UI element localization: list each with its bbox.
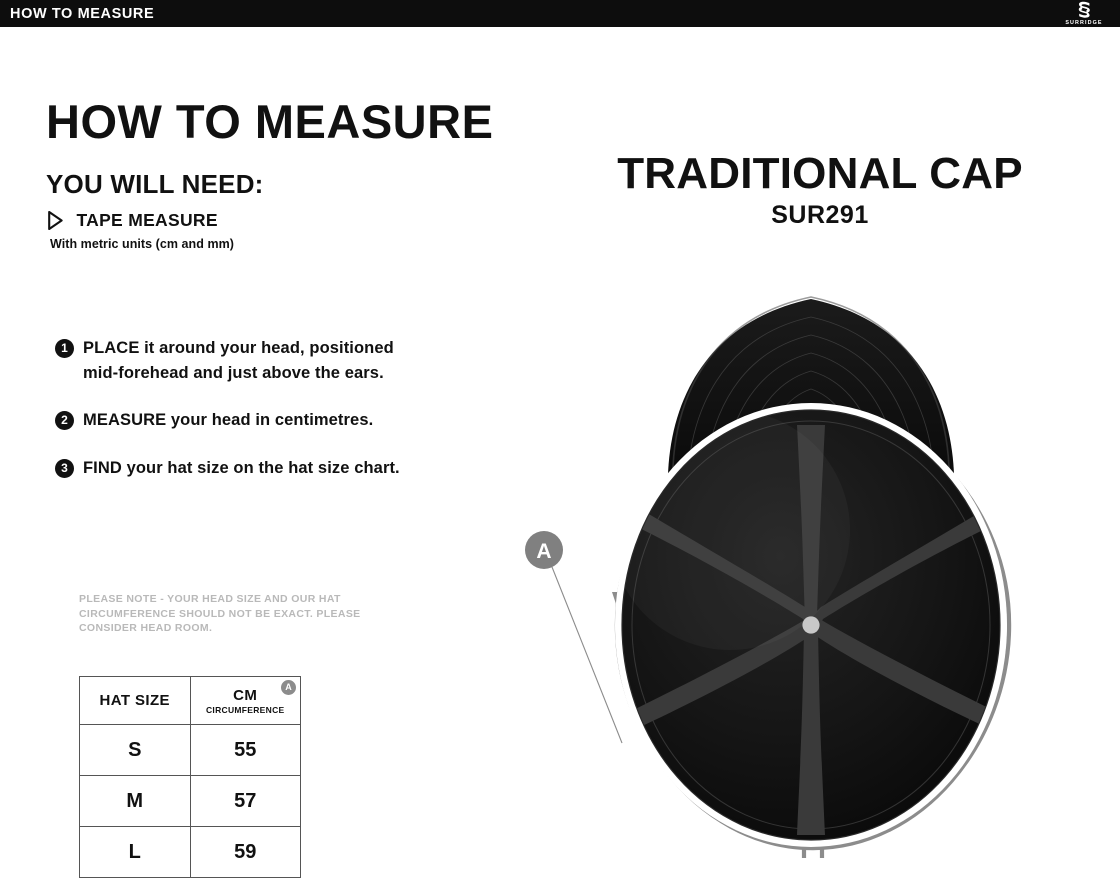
top-bar-title: HOW TO MEASURE — [10, 6, 154, 22]
cap-diagram: A — [505, 275, 1120, 883]
cell-hat-size: M — [80, 776, 191, 827]
play-triangle-icon — [48, 211, 63, 230]
table-row: M 57 — [80, 776, 301, 827]
cap-illustration: A — [505, 275, 1120, 883]
tool-row: TAPE MEASURE — [48, 210, 468, 231]
instruction-step: 1 PLACE it around your head, positioned … — [55, 336, 415, 385]
instruction-steps: 1 PLACE it around your head, positioned … — [55, 336, 415, 503]
tool-name: TAPE MEASURE — [76, 210, 217, 231]
table-row: L 59 — [80, 827, 301, 878]
step-number-badge: 1 — [55, 339, 74, 358]
table-header-row: HAT SIZE CM CIRCUMFERENCE A — [80, 677, 301, 725]
please-note-disclaimer: PLEASE NOTE - YOUR HEAD SIZE AND OUR HAT… — [79, 592, 409, 636]
step-number-badge: 3 — [55, 459, 74, 478]
you-will-need-heading: YOU WILL NEED: — [46, 169, 264, 200]
measurement-a-badge: A — [281, 680, 296, 695]
column-header-circumference: CM CIRCUMFERENCE A — [190, 677, 301, 725]
column-header-hat-size-label: HAT SIZE — [80, 692, 190, 709]
cell-hat-size: S — [80, 725, 191, 776]
product-name: TRADITIONAL CAP — [520, 150, 1120, 198]
step-text: PLACE it around your head, positioned mi… — [83, 339, 394, 382]
tool-subtitle: With metric units (cm and mm) — [50, 237, 234, 251]
column-header-circumference-label: CIRCUMFERENCE — [191, 705, 301, 715]
top-bar: HOW TO MEASURE SURRIDGE — [0, 0, 1120, 27]
instruction-step: 3 FIND your hat size on the hat size cha… — [55, 456, 415, 481]
step-number-badge: 2 — [55, 411, 74, 430]
hat-size-table: HAT SIZE CM CIRCUMFERENCE A S 55 M 57 L … — [79, 676, 301, 878]
instruction-step: 2 MEASURE your head in centimetres. — [55, 408, 415, 433]
cell-circumference: 59 — [190, 827, 301, 878]
cell-circumference: 57 — [190, 776, 301, 827]
column-header-hat-size: HAT SIZE — [80, 677, 191, 725]
brand-wordmark: SURRIDGE — [1056, 20, 1112, 26]
step-text: FIND your hat size on the hat size chart… — [83, 459, 400, 477]
cell-hat-size: L — [80, 827, 191, 878]
callout-a-label: A — [536, 540, 551, 563]
step-text: MEASURE your head in centimetres. — [83, 411, 373, 429]
table-row: S 55 — [80, 725, 301, 776]
product-code: SUR291 — [520, 201, 1120, 230]
page-title: HOW TO MEASURE — [46, 95, 493, 149]
brand-logo: SURRIDGE — [1056, 1, 1112, 26]
cell-circumference: 55 — [190, 725, 301, 776]
surridge-s-monogram-icon — [1077, 1, 1092, 19]
crown-button-icon — [802, 616, 819, 633]
callout-a: A — [525, 531, 622, 743]
